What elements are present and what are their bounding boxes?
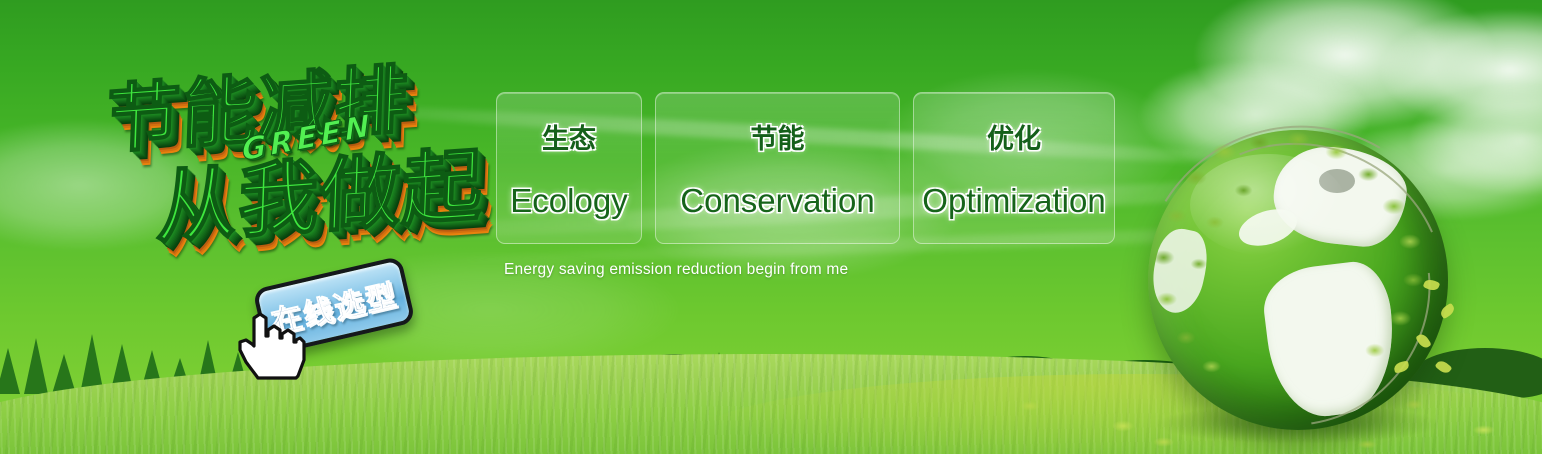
feature-card-ecology[interactable]: 生态 Ecology xyxy=(496,92,642,244)
cloud-icon xyxy=(1380,10,1542,130)
feature-card-optimization[interactable]: 优化 Optimization xyxy=(913,92,1115,244)
feature-card-cn-label: 优化 xyxy=(987,117,1041,156)
cloud-icon xyxy=(1195,0,1495,130)
green-globe-icon xyxy=(1148,130,1448,430)
feature-card-en-label: Conservation xyxy=(680,182,874,220)
feature-card-en-label: Optimization xyxy=(922,182,1105,220)
banner-tagline: Energy saving emission reduction begin f… xyxy=(504,261,848,279)
eco-promo-banner: 节能减排 从我做起 GREEN 在线选型 生态 Ecology 节能 Conse… xyxy=(0,0,1542,454)
feature-card-row: 生态 Ecology 节能 Conservation 优化 Optimizati… xyxy=(496,92,1115,244)
headline-logo: 节能减排 从我做起 GREEN xyxy=(89,29,494,281)
feature-card-conservation[interactable]: 节能 Conservation xyxy=(655,92,900,244)
feature-card-cn-label: 节能 xyxy=(751,117,805,156)
pointing-hand-cursor-icon xyxy=(234,300,308,380)
feature-card-cn-label: 生态 xyxy=(542,117,596,156)
feature-card-en-label: Ecology xyxy=(510,182,627,220)
online-selection-cta[interactable]: 在线选型 xyxy=(258,272,410,340)
